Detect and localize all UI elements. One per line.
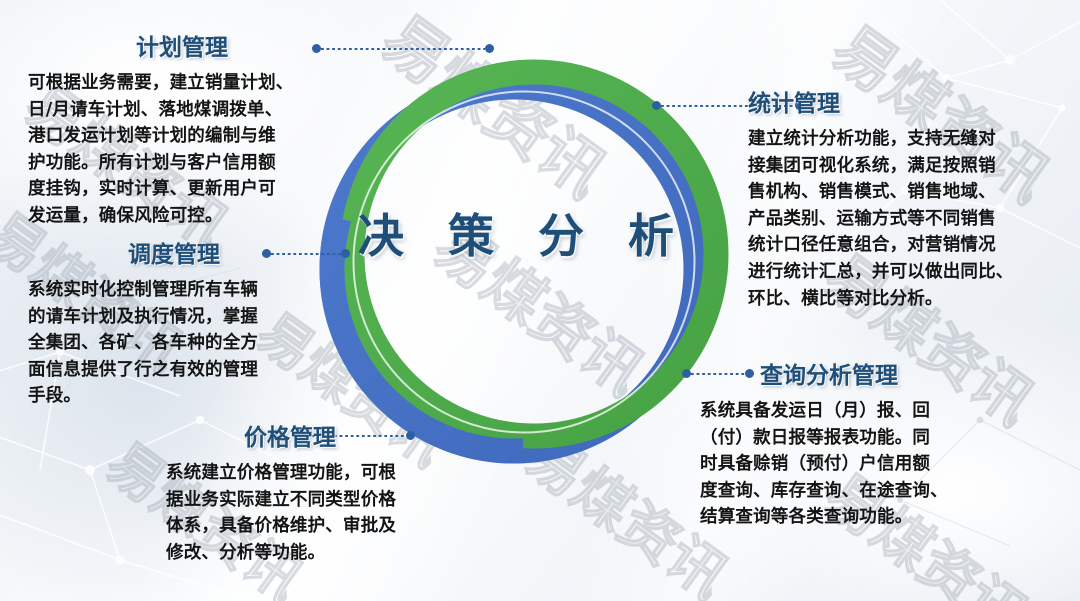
body-line: 发运量，确保风险可控。: [28, 203, 294, 230]
body-line: 据业务实际建立不同类型价格: [166, 487, 396, 514]
body-line: 全集团、各矿、各车种的全方: [28, 330, 258, 357]
slide-canvas: 易煤资讯 易煤资讯 易煤资讯 易煤资讯 易煤资讯 易煤资讯 易煤资讯 易煤资讯 …: [0, 0, 1080, 601]
body-line: （付）款日报等报表功能。同: [700, 425, 948, 452]
connector-dot: [652, 101, 661, 110]
body-line: 系统实时化控制管理所有车辆: [28, 277, 258, 304]
body-line: 可根据业务需要，建立销量计划、: [28, 70, 294, 97]
body-line: 日/月请车计划、落地煤调拨单、: [28, 97, 294, 124]
block-body: 系统实时化控制管理所有车辆 的请车计划及执行情况，掌握 全集团、各矿、各车种的全…: [28, 277, 258, 410]
block-query-analysis-management: 查询分析管理 系统具备发运日（月）报、回 （付）款日报等报表功能。同 时具备赊销…: [700, 356, 948, 531]
body-line: 结算查询等各类查询功能。: [700, 504, 948, 531]
block-body: 建立统计分析功能，支持无缝对 接集团可视化系统，满足按照销 售机构、销售模式、销…: [748, 126, 1014, 312]
connector-dashes: [271, 253, 341, 255]
connector-dot: [341, 249, 350, 258]
body-line: 建立统计分析功能，支持无缝对: [748, 126, 1014, 153]
block-dispatch-management: 调度管理 系统实时化控制管理所有车辆 的请车计划及执行情况，掌握 全集团、各矿、…: [28, 235, 258, 410]
body-line: 修改、分析等功能。: [166, 540, 396, 567]
connector-dispatch: [262, 249, 350, 258]
block-body: 系统具备发运日（月）报、回 （付）款日报等报表功能。同 时具备赊销（预付）户信用…: [700, 398, 948, 531]
body-line: 港口发运计划等计划的编制与维: [28, 123, 294, 150]
body-line: 手段。: [28, 383, 258, 410]
connector-dot: [485, 44, 494, 53]
body-line: 度查询、库存查询、在途查询、: [700, 478, 948, 505]
connector-dot: [262, 249, 271, 258]
body-line: 系统建立价格管理功能，可根: [166, 460, 396, 487]
body-line: 面信息提供了行之有效的管理: [28, 357, 258, 384]
body-line: 进行统计汇总，并可以做出同比、: [748, 259, 1014, 286]
block-body: 系统建立价格管理功能，可根 据业务实际建立不同类型价格 体系，具备价格维护、审批…: [166, 460, 396, 566]
body-line: 护功能。所有计划与客户信用额: [28, 150, 294, 177]
body-line: 产品类别、运输方式等不同销售: [748, 206, 1014, 233]
block-heading: 查询分析管理: [760, 356, 948, 390]
block-heading: 价格管理: [244, 418, 396, 452]
body-line: 度挂钩，实时计算、更新用户可: [28, 176, 294, 203]
body-line: 统计口径任意组合，对营销情况: [748, 232, 1014, 259]
block-statistics-management: 统计管理 建立统计分析功能，支持无缝对 接集团可视化系统，满足按照销 售机构、销…: [748, 84, 1014, 312]
body-line: 环比、横比等对比分析。: [748, 286, 1014, 313]
connector-dashes: [321, 48, 485, 50]
body-line: 系统具备发运日（月）报、回: [700, 398, 948, 425]
block-heading: 调度管理: [128, 235, 258, 269]
block-heading: 统计管理: [748, 84, 1014, 118]
body-line: 接集团可视化系统，满足按照销: [748, 153, 1014, 180]
body-line: 体系，具备价格维护、审批及: [166, 513, 396, 540]
connector-dot: [682, 369, 691, 378]
connector-dot: [312, 44, 321, 53]
body-line: 的请车计划及执行情况，掌握: [28, 304, 258, 331]
body-line: 售机构、销售模式、销售地域、: [748, 179, 1014, 206]
block-heading: 计划管理: [136, 28, 294, 62]
connector-plan: [312, 44, 494, 53]
center-title: 决 策 分 析: [286, 200, 760, 266]
body-line: 时具备赊销（预付）户信用额: [700, 451, 948, 478]
block-price-management: 价格管理 系统建立价格管理功能，可根 据业务实际建立不同类型价格 体系，具备价格…: [166, 418, 396, 566]
block-plan-management: 计划管理 可根据业务需要，建立销量计划、 日/月请车计划、落地煤调拨单、 港口发…: [28, 28, 294, 230]
block-body: 可根据业务需要，建立销量计划、 日/月请车计划、落地煤调拨单、 港口发运计划等计…: [28, 70, 294, 230]
connector-dot: [406, 431, 415, 440]
